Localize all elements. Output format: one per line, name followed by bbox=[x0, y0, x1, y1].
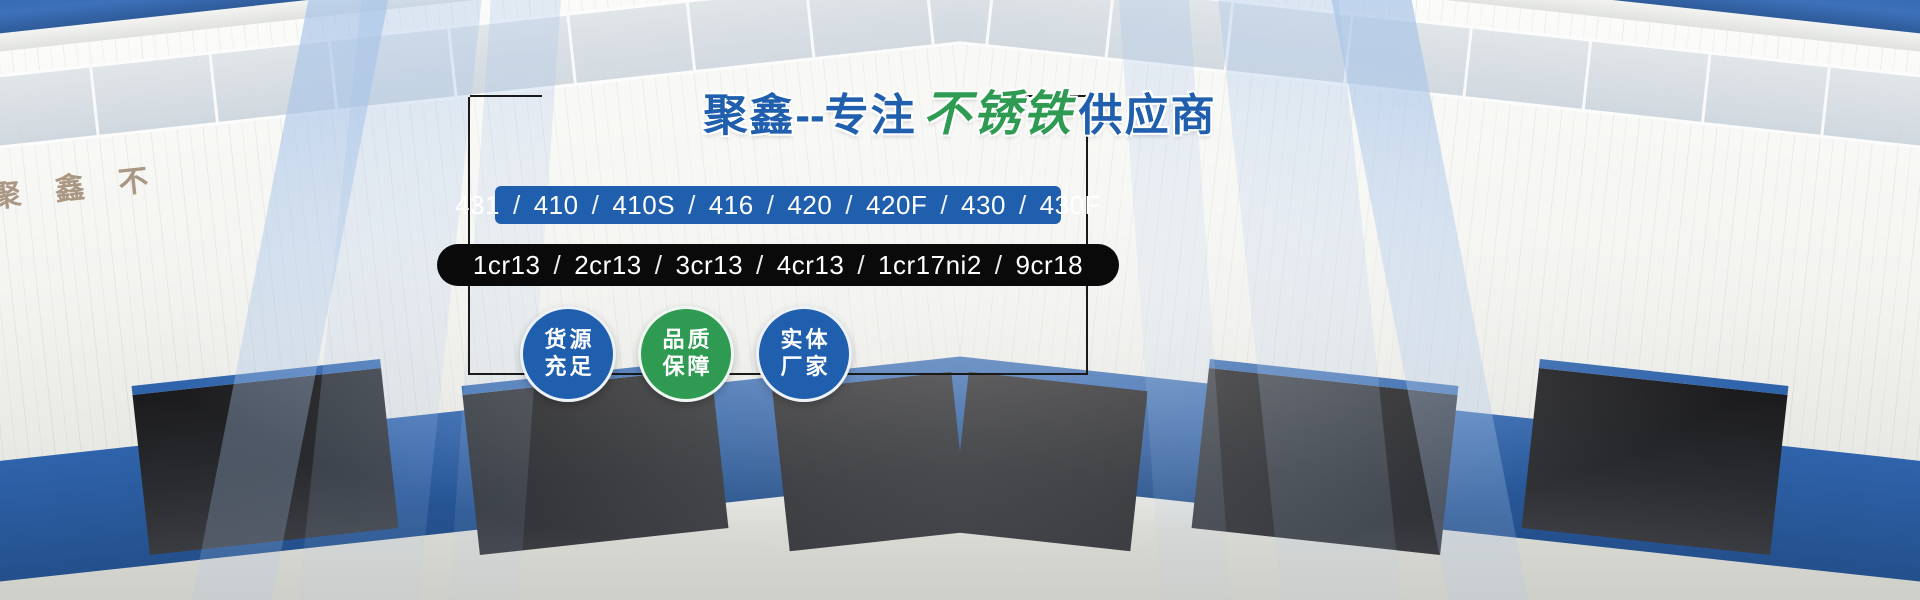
grade-row-astm: 431/410/410S/416/420/420F/430/430F bbox=[495, 186, 1061, 224]
feature-badge: 实体厂家 bbox=[756, 306, 852, 402]
banner-headline: 聚鑫--专注不锈铁供应商 bbox=[0, 74, 1920, 144]
headline-suffix: 供应商 bbox=[1079, 79, 1217, 143]
grade-separator: / bbox=[581, 190, 611, 221]
grade-separator: / bbox=[542, 250, 572, 281]
grade-token: 430 bbox=[959, 190, 1008, 221]
grade-separator: / bbox=[1008, 190, 1038, 221]
feature-badge-line1: 实体 bbox=[777, 327, 830, 354]
grade-token: 2cr13 bbox=[572, 250, 644, 281]
grade-token: 420 bbox=[785, 190, 834, 221]
banner-content: 聚鑫--专注不锈铁供应商 431/410/410S/416/420/420F/4… bbox=[0, 0, 1920, 600]
grade-token: 4cr13 bbox=[775, 250, 847, 281]
grade-token: 416 bbox=[707, 190, 756, 221]
grade-separator: / bbox=[984, 250, 1014, 281]
feature-badge-line2: 厂家 bbox=[777, 354, 830, 381]
feature-badge-line2: 保障 bbox=[659, 354, 712, 381]
headline-brand: 聚鑫 bbox=[703, 79, 795, 143]
grade-token: 410S bbox=[610, 190, 677, 221]
feature-badge-line1: 品质 bbox=[659, 327, 712, 354]
feature-badge: 货源充足 bbox=[520, 306, 616, 402]
grade-separator: / bbox=[846, 250, 876, 281]
feature-badge-group: 货源充足品质保障实体厂家 bbox=[520, 306, 1040, 402]
grade-separator: / bbox=[677, 190, 707, 221]
grade-token: 430F bbox=[1038, 190, 1103, 221]
grade-token: 9cr18 bbox=[1014, 250, 1086, 281]
grade-token: 410 bbox=[532, 190, 581, 221]
feature-badge-line1: 货源 bbox=[541, 327, 594, 354]
feature-badge-line2: 充足 bbox=[541, 354, 594, 381]
promo-banner: 聚 鑫 不 聚鑫--专注不锈铁供应商 431/410/410 bbox=[0, 0, 1920, 600]
headline-focus: 专注 bbox=[825, 79, 917, 143]
grade-separator: / bbox=[502, 190, 532, 221]
feature-badge: 品质保障 bbox=[638, 306, 734, 402]
grade-separator: / bbox=[745, 250, 775, 281]
grade-separator: / bbox=[929, 190, 959, 221]
grade-separator: / bbox=[644, 250, 674, 281]
grade-token: 1cr17ni2 bbox=[876, 250, 984, 281]
headline-dash: -- bbox=[795, 91, 824, 141]
grade-token: 420F bbox=[864, 190, 929, 221]
headline-highlight: 不锈铁 bbox=[923, 74, 1073, 144]
grade-token: 431 bbox=[453, 190, 502, 221]
grade-separator: / bbox=[834, 190, 864, 221]
grade-token: 3cr13 bbox=[673, 250, 745, 281]
grade-row-cr: 1cr13/2cr13/3cr13/4cr13/1cr17ni2/9cr18 bbox=[437, 244, 1119, 286]
grade-token: 1cr13 bbox=[471, 250, 543, 281]
grade-separator: / bbox=[756, 190, 786, 221]
